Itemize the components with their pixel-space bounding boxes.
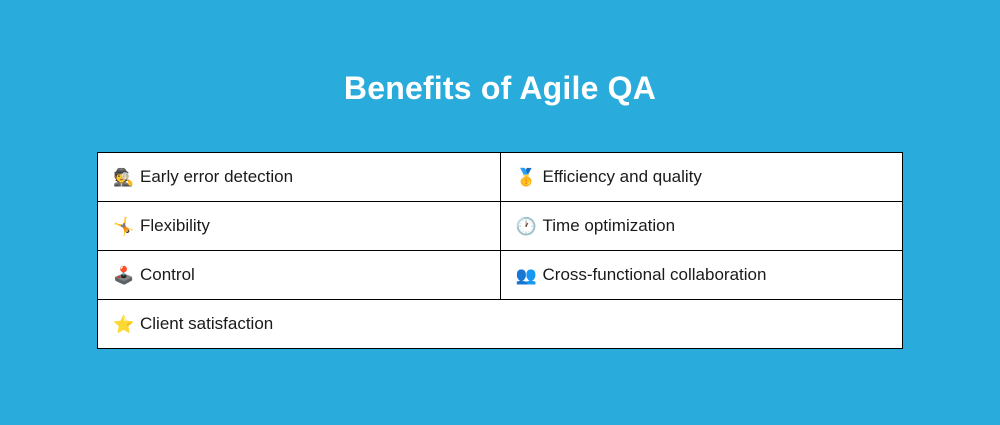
- benefit-label: Early error detection: [140, 166, 293, 188]
- benefit-label: Time optimization: [543, 215, 676, 237]
- benefit-cell-efficiency-and-quality: 🥇 Efficiency and quality: [500, 153, 903, 202]
- benefit-cell-flexibility: 🤸 Flexibility: [98, 202, 501, 251]
- detective-icon: 🕵️: [113, 169, 133, 186]
- slide-canvas: Benefits of Agile QA 🕵️ Early error dete…: [0, 0, 1000, 425]
- benefit-label: Client satisfaction: [140, 313, 273, 335]
- benefit-cell-control: 🕹️ Control: [98, 251, 501, 300]
- star-icon: ⭐: [113, 316, 133, 333]
- benefit-cell-early-error-detection: 🕵️ Early error detection: [98, 153, 501, 202]
- table-row: ⭐ Client satisfaction: [98, 300, 903, 349]
- page-title: Benefits of Agile QA: [0, 68, 1000, 108]
- benefit-cell-client-satisfaction: ⭐ Client satisfaction: [98, 300, 903, 349]
- busts-in-silhouette-icon: 👥: [516, 267, 536, 284]
- table-row: 🕹️ Control 👥 Cross-functional collaborat…: [98, 251, 903, 300]
- table-row: 🕵️ Early error detection 🥇 Efficiency an…: [98, 153, 903, 202]
- clock-icon: 🕐: [516, 218, 536, 235]
- benefit-label: Flexibility: [140, 215, 210, 237]
- benefit-cell-time-optimization: 🕐 Time optimization: [500, 202, 903, 251]
- table-row: 🤸 Flexibility 🕐 Time optimization: [98, 202, 903, 251]
- benefit-label: Efficiency and quality: [543, 166, 702, 188]
- gold-medal-icon: 🥇: [516, 169, 536, 186]
- joystick-icon: 🕹️: [113, 267, 133, 284]
- benefit-label: Control: [140, 264, 195, 286]
- benefits-table: 🕵️ Early error detection 🥇 Efficiency an…: [97, 152, 903, 349]
- person-cartwheeling-icon: 🤸: [113, 218, 133, 235]
- benefits-table-body: 🕵️ Early error detection 🥇 Efficiency an…: [98, 153, 903, 349]
- benefit-cell-cross-functional-collaboration: 👥 Cross-functional collaboration: [500, 251, 903, 300]
- benefit-label: Cross-functional collaboration: [543, 264, 767, 286]
